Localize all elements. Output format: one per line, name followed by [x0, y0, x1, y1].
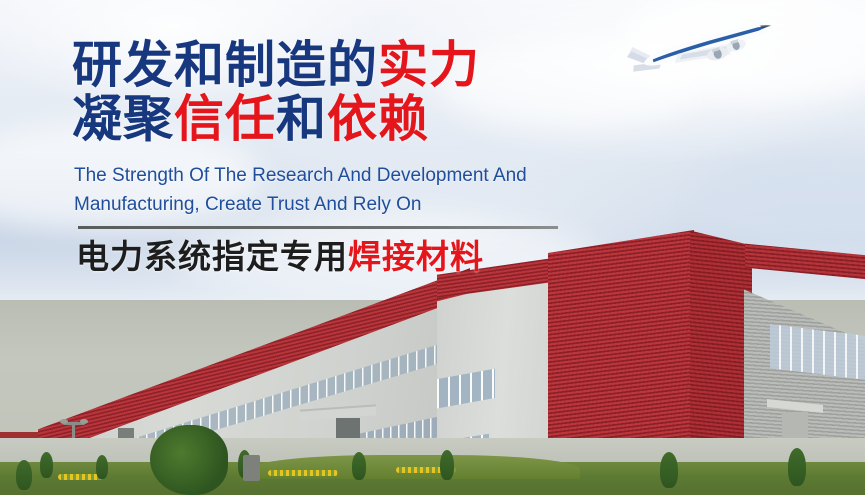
conifer-shrub — [352, 452, 366, 480]
conifer-shrub — [96, 455, 108, 479]
tagline-black: 电力系统指定专用 — [76, 238, 348, 275]
waste-bin — [243, 455, 260, 481]
headline-line-2-red-b: 依赖 — [327, 91, 429, 147]
conifer-shrub — [440, 450, 454, 480]
conifer-shrub — [40, 452, 53, 478]
conifer-shrub — [660, 452, 678, 488]
headline-line-2: 凝聚信任和依赖 — [72, 94, 429, 144]
headline-line-2-navy-a: 凝聚 — [72, 91, 174, 147]
conifer-shrub — [788, 448, 806, 486]
lamp-head — [60, 419, 68, 424]
conifer-shrub — [16, 460, 32, 490]
headline-line-1: 研发和制造的实力 — [72, 40, 480, 90]
subtitle-line-1: The Strength Of The Research And Develop… — [74, 163, 527, 189]
subtitle-line-2: Manufacturing, Create Trust And Rely On — [74, 192, 421, 218]
headline-line-2-red-a: 信任 — [174, 91, 276, 147]
headline-line-2-navy-b: 和 — [276, 91, 327, 147]
headline-line-1-navy: 研发和制造的 — [72, 37, 378, 93]
foreground-tree — [150, 425, 228, 495]
flower-bed — [58, 474, 102, 480]
divider-rule — [78, 226, 558, 229]
flower-bed — [268, 470, 338, 476]
lamp-head — [80, 419, 88, 424]
tagline-red: 焊接材料 — [348, 238, 484, 275]
headline-block: 研发和制造的实力 凝聚信任和依赖 The Strength Of The Res… — [0, 0, 865, 300]
headline-line-1-red: 实力 — [378, 37, 480, 93]
hero-banner: 研发和制造的实力 凝聚信任和依赖 The Strength Of The Res… — [0, 0, 865, 495]
tagline: 电力系统指定专用焊接材料 — [76, 240, 484, 273]
